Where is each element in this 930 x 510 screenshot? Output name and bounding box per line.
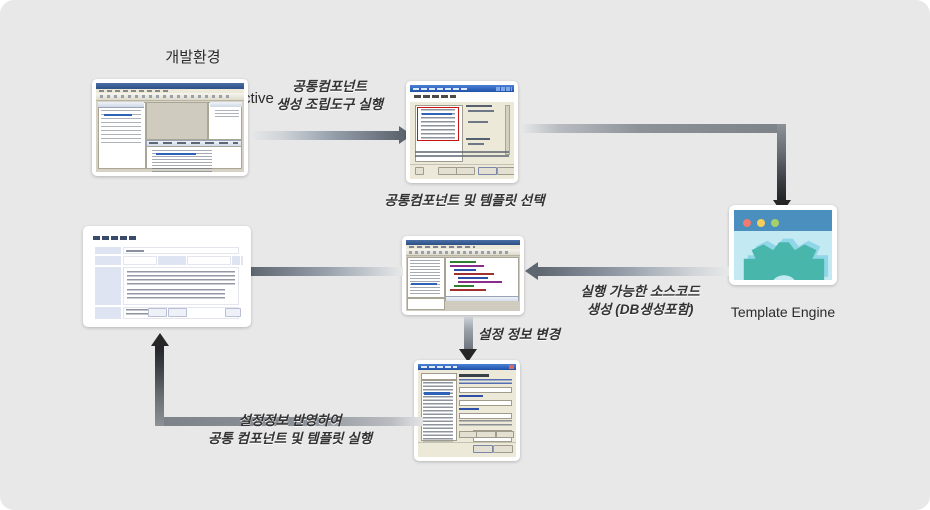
code-tool-icons bbox=[409, 251, 510, 254]
preferences-field-2[interactable] bbox=[459, 400, 512, 406]
gear-icon bbox=[734, 230, 832, 280]
preferences-tree-selected bbox=[424, 392, 450, 395]
wizard-finish-button[interactable] bbox=[478, 167, 497, 175]
web-form-row-subject-label bbox=[95, 247, 121, 254]
wizard-window-controls[interactable] bbox=[496, 87, 512, 91]
template-engine-dot-green bbox=[771, 219, 779, 227]
preferences-close-button[interactable] bbox=[509, 365, 514, 369]
web-form-attachment-label bbox=[95, 307, 121, 319]
code-line-2 bbox=[450, 265, 484, 267]
wizard-description-text-3 bbox=[468, 143, 484, 145]
code-explorer-selected bbox=[411, 283, 437, 285]
outline-panel-tab bbox=[210, 102, 242, 107]
preferences-title-text bbox=[421, 366, 457, 368]
preferences-form-heading bbox=[459, 374, 489, 377]
code-console-pane bbox=[445, 301, 519, 310]
code-line-7 bbox=[454, 285, 474, 287]
wizard-tree-selected-row bbox=[422, 113, 452, 115]
arrow-run-with-config-shaft-v bbox=[155, 346, 164, 426]
web-form-content-paragraph-2 bbox=[127, 289, 225, 300]
editor-area bbox=[146, 102, 208, 140]
arrow-change-config-label: 설정 정보 변경 bbox=[478, 326, 638, 344]
arrow-generate-source-shaft bbox=[538, 267, 729, 276]
wizard-back-button[interactable] bbox=[438, 167, 457, 175]
tool-bar-icons bbox=[100, 95, 230, 98]
wizard-inner bbox=[410, 85, 514, 179]
arrow-generate-source-head bbox=[525, 262, 538, 280]
preferences-form-desc bbox=[459, 379, 512, 384]
bottom-view-tab-labels bbox=[149, 142, 238, 144]
diagram-canvas: 개발환경 eGovFrame Perspective bbox=[0, 0, 930, 510]
bottom-view-selected-row bbox=[156, 153, 196, 155]
preferences-dialog-screenshot[interactable] bbox=[414, 360, 520, 461]
arrow-to-webform-shaft bbox=[251, 267, 403, 276]
code-explorer-tree bbox=[410, 260, 440, 294]
arrow-run-tool-label: 공통컴포넌트 생성 조립도구 실행 bbox=[247, 78, 412, 114]
code-menu-text bbox=[409, 246, 475, 248]
code-line-8 bbox=[450, 289, 486, 291]
template-engine-icon-inner bbox=[734, 210, 832, 280]
code-line-3 bbox=[454, 269, 476, 271]
template-engine-icon[interactable] bbox=[729, 205, 837, 285]
arrow-to-template-engine bbox=[520, 124, 790, 216]
preferences-inner bbox=[418, 364, 516, 457]
code-line-6 bbox=[458, 281, 502, 283]
wizard-description-text-2 bbox=[468, 121, 488, 123]
web-form-date-value bbox=[187, 256, 231, 265]
eclipse-ide-screenshot-inner bbox=[96, 83, 244, 172]
new-common-component-wizard-screenshot[interactable] bbox=[406, 81, 518, 183]
wizard-title-text bbox=[413, 88, 469, 90]
preferences-field-2-label bbox=[459, 395, 483, 397]
outline-panel-rows bbox=[215, 110, 239, 118]
wizard-help-button[interactable] bbox=[415, 167, 424, 175]
preferences-apply-button[interactable] bbox=[496, 431, 514, 438]
generated-source-code-screenshot[interactable] bbox=[402, 236, 524, 315]
preferences-field-1[interactable] bbox=[459, 387, 512, 393]
web-form-inner bbox=[87, 230, 247, 323]
web-form-title bbox=[93, 236, 137, 240]
wizard-header-title bbox=[414, 95, 456, 98]
template-engine-dot-red bbox=[743, 219, 751, 227]
code-line-5 bbox=[458, 277, 488, 279]
web-form-date-label bbox=[158, 256, 186, 265]
arrow-run-with-config-head bbox=[151, 333, 169, 346]
web-form-save-button[interactable] bbox=[148, 308, 167, 317]
wizard-scrollbar[interactable] bbox=[505, 105, 510, 155]
web-form-hits-value bbox=[241, 256, 243, 265]
arrow-to-template-engine-shaft-v bbox=[777, 124, 786, 200]
eclipse-ide-screenshot[interactable] bbox=[92, 79, 248, 176]
project-explorer-selected-row bbox=[104, 114, 132, 116]
code-status-bar bbox=[407, 298, 445, 310]
preferences-test-button[interactable] bbox=[459, 431, 477, 438]
code-line-4 bbox=[454, 273, 494, 275]
web-form-list-button[interactable] bbox=[168, 308, 187, 317]
wizard-description-text bbox=[468, 110, 494, 112]
web-form-content-label bbox=[95, 267, 121, 305]
wizard-notice-text bbox=[415, 151, 509, 158]
web-form-hits-label bbox=[232, 256, 240, 265]
wizard-description-heading bbox=[466, 105, 492, 107]
wizard-cancel-button[interactable] bbox=[497, 167, 514, 175]
preferences-filter-input[interactable] bbox=[421, 373, 457, 380]
preferences-field-3[interactable] bbox=[459, 413, 512, 419]
code-line-1 bbox=[450, 261, 476, 263]
wizard-next-button[interactable] bbox=[456, 167, 475, 175]
outline-panel bbox=[208, 102, 242, 140]
menu-text bbox=[99, 90, 169, 92]
web-form-subject-text bbox=[126, 250, 144, 252]
preferences-ok-button[interactable] bbox=[473, 445, 493, 453]
arrow-change-config bbox=[459, 317, 477, 362]
preferences-radio-group[interactable] bbox=[459, 420, 512, 427]
arrow-generate-source-label: 실행 가능한 소스코드 생성 (DB생성포함) bbox=[540, 283, 740, 319]
ide-label-line1: 개발환경 bbox=[68, 48, 318, 68]
web-form-close-button[interactable] bbox=[225, 308, 241, 317]
project-explorer-tab bbox=[98, 102, 144, 108]
web-form-attachment-files bbox=[126, 309, 148, 316]
template-engine-dot-yellow bbox=[757, 219, 765, 227]
arrow-run-tool bbox=[250, 126, 412, 144]
arrow-generate-source bbox=[525, 262, 729, 280]
arrow-to-webform bbox=[238, 262, 403, 280]
web-form-content-paragraph-1 bbox=[127, 271, 235, 285]
arrow-run-with-config-label: 설정정보 반영하여 공통 컴포넌트 및 템플릿 실행 bbox=[175, 412, 405, 448]
web-form-writer-value bbox=[123, 256, 157, 265]
preferences-field-3-label bbox=[459, 408, 479, 410]
arrow-run-tool-shaft bbox=[250, 131, 399, 140]
arrow-to-template-engine-shaft-h bbox=[520, 124, 786, 133]
preferences-restore-defaults-button[interactable] bbox=[476, 431, 496, 438]
running-web-application-screenshot[interactable] bbox=[83, 226, 251, 327]
web-form-row-writer-label bbox=[95, 256, 121, 265]
preferences-cancel-button[interactable] bbox=[493, 445, 513, 453]
arrow-change-config-shaft bbox=[464, 317, 473, 349]
code-editor-inner bbox=[406, 240, 520, 311]
wizard-description-heading-2 bbox=[466, 138, 490, 140]
preferences-tree-items bbox=[423, 382, 453, 442]
